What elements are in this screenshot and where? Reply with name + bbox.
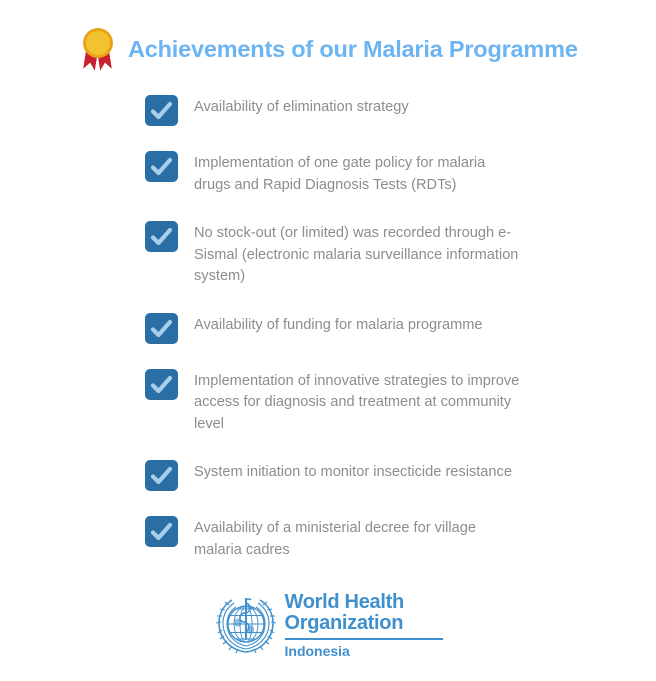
page-header: Achievements of our Malaria Programme: [0, 0, 656, 72]
checkbox-checked-icon: [145, 313, 178, 344]
who-name-line2: Organization: [285, 613, 443, 634]
list-item-label: Implementation of one gate policy for ma…: [194, 150, 524, 196]
checkbox-checked-icon: [145, 516, 178, 547]
who-name-line1: World Health: [285, 592, 443, 613]
list-item-label: System initiation to monitor insecticide…: [194, 459, 512, 484]
checkbox-checked-icon: [145, 151, 178, 182]
list-item-label: Availability of elimination strategy: [194, 94, 409, 119]
list-item-label: Implementation of innovative strategies …: [194, 368, 524, 436]
who-logo: World Health Organization Indonesia: [0, 592, 656, 659]
who-divider: [285, 638, 443, 640]
list-item-label: No stock-out (or limited) was recorded t…: [194, 220, 524, 288]
checkbox-checked-icon: [145, 460, 178, 491]
list-item: Availability of elimination strategy: [145, 94, 616, 126]
list-item-label: Availability of a ministerial decree for…: [194, 515, 524, 561]
list-item: No stock-out (or limited) was recorded t…: [145, 220, 616, 288]
list-item-label: Availability of funding for malaria prog…: [194, 312, 483, 337]
list-item: Implementation of innovative strategies …: [145, 368, 616, 436]
checkbox-checked-icon: [145, 95, 178, 126]
checkbox-checked-icon: [145, 221, 178, 252]
page-title: Achievements of our Malaria Programme: [128, 36, 578, 63]
who-country-label: Indonesia: [285, 643, 443, 659]
checkbox-checked-icon: [145, 369, 178, 400]
medal-icon: [78, 26, 118, 72]
list-item: System initiation to monitor insecticide…: [145, 459, 616, 491]
list-item: Availability of a ministerial decree for…: [145, 515, 616, 561]
list-item: Availability of funding for malaria prog…: [145, 312, 616, 344]
who-emblem-icon: [214, 594, 278, 656]
achievements-list: Availability of elimination strategy Imp…: [0, 94, 656, 561]
list-item: Implementation of one gate policy for ma…: [145, 150, 616, 196]
